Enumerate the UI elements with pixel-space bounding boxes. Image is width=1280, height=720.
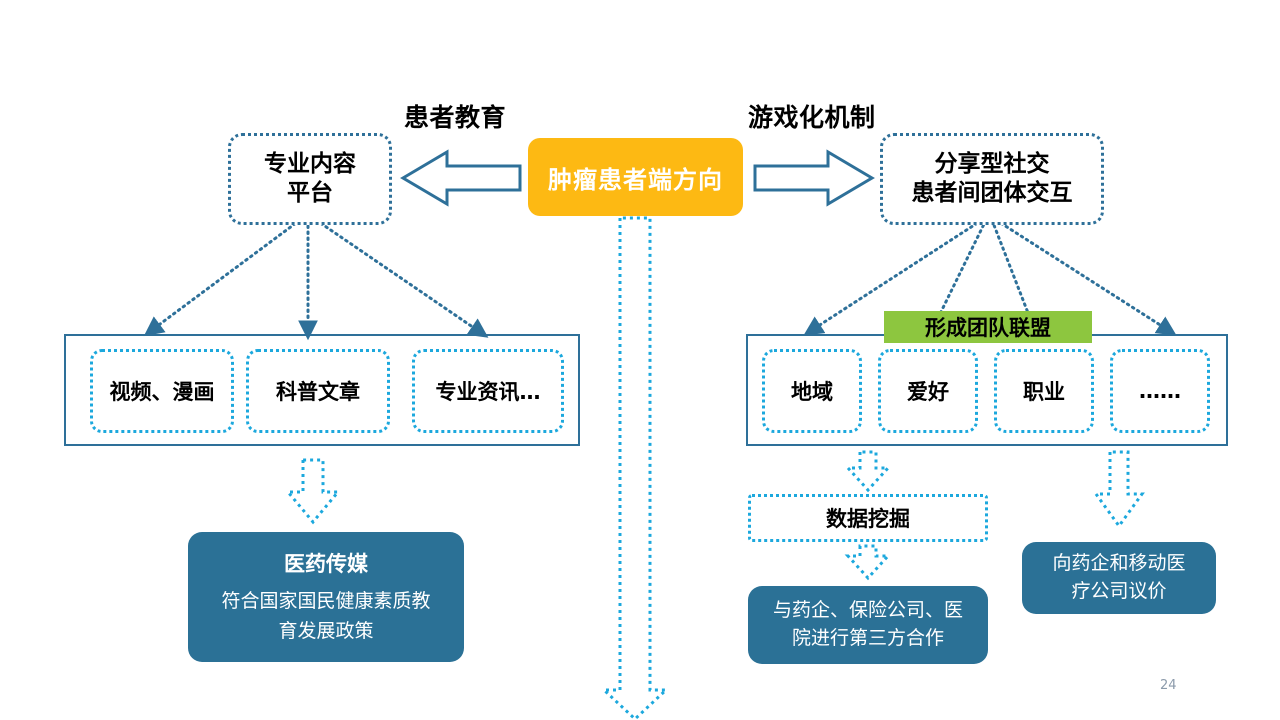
left-callout-media[interactable]: 医药传媒 符合国家国民健康素质教 育发展政策 bbox=[188, 532, 464, 662]
right-item-label: 职业 bbox=[1023, 376, 1065, 406]
right-partnership-body: 与药企、保险公司、医 院进行第三方合作 bbox=[773, 597, 963, 652]
right-bargaining-body: 向药企和移动医 疗公司议价 bbox=[1052, 550, 1185, 605]
data-mining-arrow bbox=[848, 452, 888, 490]
right-item-hobby[interactable]: 爱好 bbox=[878, 349, 978, 433]
left-top-node[interactable]: 专业内容 平台 bbox=[228, 133, 392, 225]
right-callout-bargaining[interactable]: 向药企和移动医 疗公司议价 bbox=[1022, 542, 1216, 614]
center-direction-box[interactable]: 肿瘤患者端方向 bbox=[528, 138, 743, 216]
right-block-arrow bbox=[755, 152, 872, 204]
center-direction-label: 肿瘤患者端方向 bbox=[548, 160, 723, 195]
left-top-node-line2: 平台 bbox=[287, 179, 333, 208]
right-item-label: 爱好 bbox=[907, 376, 949, 406]
left-item-professional-news[interactable]: 专业资讯… bbox=[412, 349, 564, 433]
right-data-mining-node[interactable]: 数据挖掘 bbox=[748, 494, 988, 542]
left-item-label: 科普文章 bbox=[276, 376, 360, 406]
left-item-label: 视频、漫画 bbox=[110, 376, 215, 406]
right-callout-partnership[interactable]: 与药企、保险公司、医 院进行第三方合作 bbox=[748, 586, 988, 664]
left-connector-lines bbox=[152, 220, 480, 332]
right-bargaining-line2: 疗公司议价 bbox=[1052, 578, 1185, 606]
right-item-occupation[interactable]: 职业 bbox=[994, 349, 1094, 433]
left-callout-body: 符合国家国民健康素质教 育发展政策 bbox=[221, 587, 430, 646]
right-team-alliance-badge[interactable]: 形成团队联盟 bbox=[884, 311, 1092, 343]
bargaining-arrow bbox=[1096, 452, 1142, 526]
right-bargaining-line1: 向药企和移动医 bbox=[1052, 550, 1185, 578]
left-callout-line2: 育发展政策 bbox=[221, 617, 430, 646]
right-partnership-line1: 与药企、保险公司、医 bbox=[773, 597, 963, 625]
right-top-node-line1: 分享型社交 bbox=[935, 150, 1050, 179]
left-item-label: 专业资讯… bbox=[436, 376, 541, 406]
left-callout-line1: 符合国家国民健康素质教 bbox=[221, 587, 430, 616]
center-down-arrow bbox=[604, 218, 666, 719]
partnership-arrow bbox=[848, 546, 888, 578]
left-item-science-article[interactable]: 科普文章 bbox=[246, 349, 390, 433]
right-data-mining-label: 数据挖掘 bbox=[826, 503, 910, 533]
left-section-title: 患者教育 bbox=[404, 98, 506, 134]
right-item-more[interactable]: …… bbox=[1110, 349, 1210, 433]
right-partnership-line2: 院进行第三方合作 bbox=[773, 625, 963, 653]
right-item-region[interactable]: 地域 bbox=[762, 349, 862, 433]
right-team-alliance-label: 形成团队联盟 bbox=[925, 312, 1051, 342]
right-section-title: 游戏化机制 bbox=[748, 98, 876, 134]
page-number: 24 bbox=[1160, 678, 1177, 693]
left-top-node-line1: 专业内容 bbox=[264, 150, 356, 179]
right-item-label: …… bbox=[1139, 379, 1181, 403]
left-block-arrow bbox=[403, 152, 520, 204]
slide-canvas: 患者教育 专业内容 平台 视频、漫画 科普文章 专业资讯… 医药传媒 符合国家国… bbox=[0, 0, 1280, 720]
right-top-node[interactable]: 分享型社交 患者间团体交互 bbox=[880, 133, 1104, 225]
right-top-node-line2: 患者间团体交互 bbox=[912, 179, 1073, 208]
left-item-video-comic[interactable]: 视频、漫画 bbox=[90, 349, 234, 433]
left-callout-title: 医药传媒 bbox=[284, 548, 368, 578]
right-item-label: 地域 bbox=[791, 376, 833, 406]
left-down-arrow bbox=[288, 460, 338, 522]
